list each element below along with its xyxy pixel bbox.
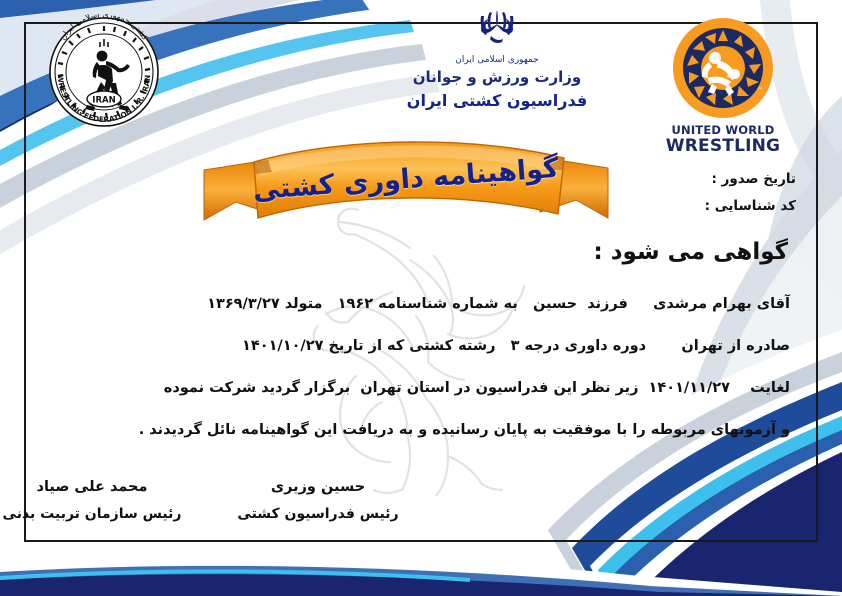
body-line-1: آقای بهرام مرشدی فرزند حسین به شماره شنا…	[50, 283, 790, 325]
issue-date-row: تاریخ صدور :	[705, 166, 796, 193]
uww-logo-block: ™ UNITED WORLD WRESTLING	[664, 16, 782, 156]
uww-line2: WRESTLING	[664, 137, 782, 156]
ministry-name-line: وزارت ورزش و جوانان	[372, 67, 622, 87]
body-line-2: صادره از تهران دوره داوری درجه ۳ رشته کش…	[50, 325, 790, 367]
certificate-body: آقای بهرام مرشدی فرزند حسین به شماره شنا…	[50, 283, 790, 451]
title-ribbon: گواهینامه داوری کشتی	[196, 128, 616, 236]
signature-title: رئیس سازمان تربیت بدنی	[0, 501, 202, 527]
identification-code-label: کد شناسایی :	[705, 198, 796, 214]
signature-title: رئیس فدراسیون کشتی	[208, 501, 428, 527]
ministry-header-block: جمهوری اسلامی ایران وزارت ورزش و جوانان …	[372, 6, 622, 112]
body-line-3: لغایت ۱۴۰۱/۱۱/۲۷ زیر نظر این فدراسیون در…	[50, 367, 790, 409]
identification-code-row: کد شناسایی :	[705, 193, 796, 220]
signature-name: محمد علی صیاد	[0, 474, 202, 501]
united-world-wrestling-logo-icon: ™	[671, 16, 775, 120]
certify-heading: گواهی می شود :	[594, 239, 788, 265]
signature-area: حسین وزیری رئیس فدراسیون کشتی محمد علی ص…	[0, 474, 842, 544]
svg-text:IRAN: IRAN	[92, 96, 115, 106]
signature-name: حسین وزیری	[208, 474, 428, 501]
wrestling-federation-seal-icon: IRAN کشتی جمهوری اسلامی ایران WRESTLING …	[36, 14, 172, 130]
signature-organization-president: محمد علی صیاد رئیس سازمان تربیت بدنی	[0, 474, 202, 527]
iran-emblem-icon	[471, 6, 523, 54]
federation-name-line: فدراسیون کشتی ایران	[372, 90, 622, 112]
signature-federation-president: حسین وزیری رئیس فدراسیون کشتی	[208, 474, 428, 527]
svg-text:™: ™	[757, 87, 763, 94]
issue-date-label: تاریخ صدور :	[711, 171, 796, 187]
certificate-page: IRAN کشتی جمهوری اسلامی ایران WRESTLING …	[0, 0, 842, 596]
meta-fields: تاریخ صدور : کد شناسایی :	[705, 166, 796, 220]
body-line-4: و آزمونهای مربوطه را با موفقیت به پایان …	[50, 409, 790, 451]
ministry-republic-line: جمهوری اسلامی ایران	[372, 55, 622, 66]
